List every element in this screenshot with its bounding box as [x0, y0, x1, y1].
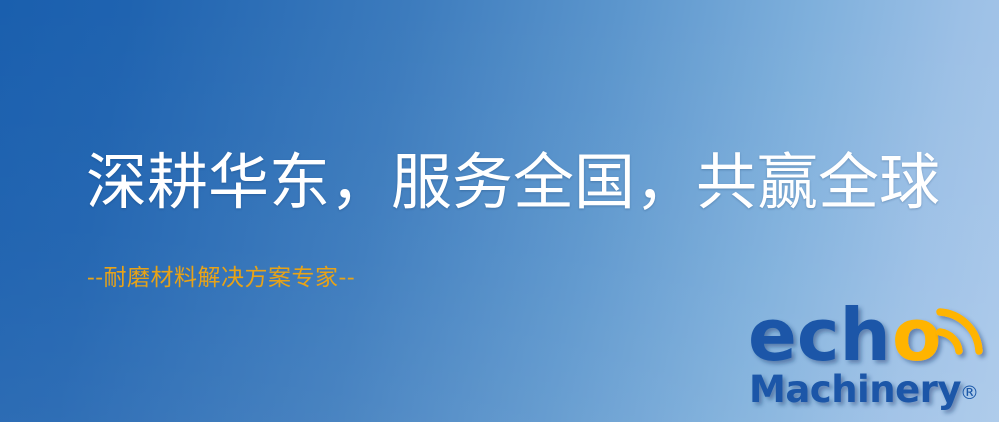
logo-text-o: o — [892, 293, 941, 377]
logo-text-machinery: Machinery — [749, 368, 961, 411]
echo-signal-arcs-icon — [940, 312, 979, 351]
promo-banner: 深耕华东，服务全国，共赢全球 --耐磨材料解决方案专家-- ech o Mach… — [0, 0, 999, 422]
logo-text-ech: ech — [748, 293, 891, 377]
banner-headline: 深耕华东，服务全国，共赢全球 — [86, 152, 940, 213]
logo-registered-mark: ® — [960, 382, 979, 404]
echo-machinery-logo: ech o Machinery ® — [744, 298, 994, 418]
banner-subtitle: --耐磨材料解决方案专家-- — [87, 267, 355, 290]
